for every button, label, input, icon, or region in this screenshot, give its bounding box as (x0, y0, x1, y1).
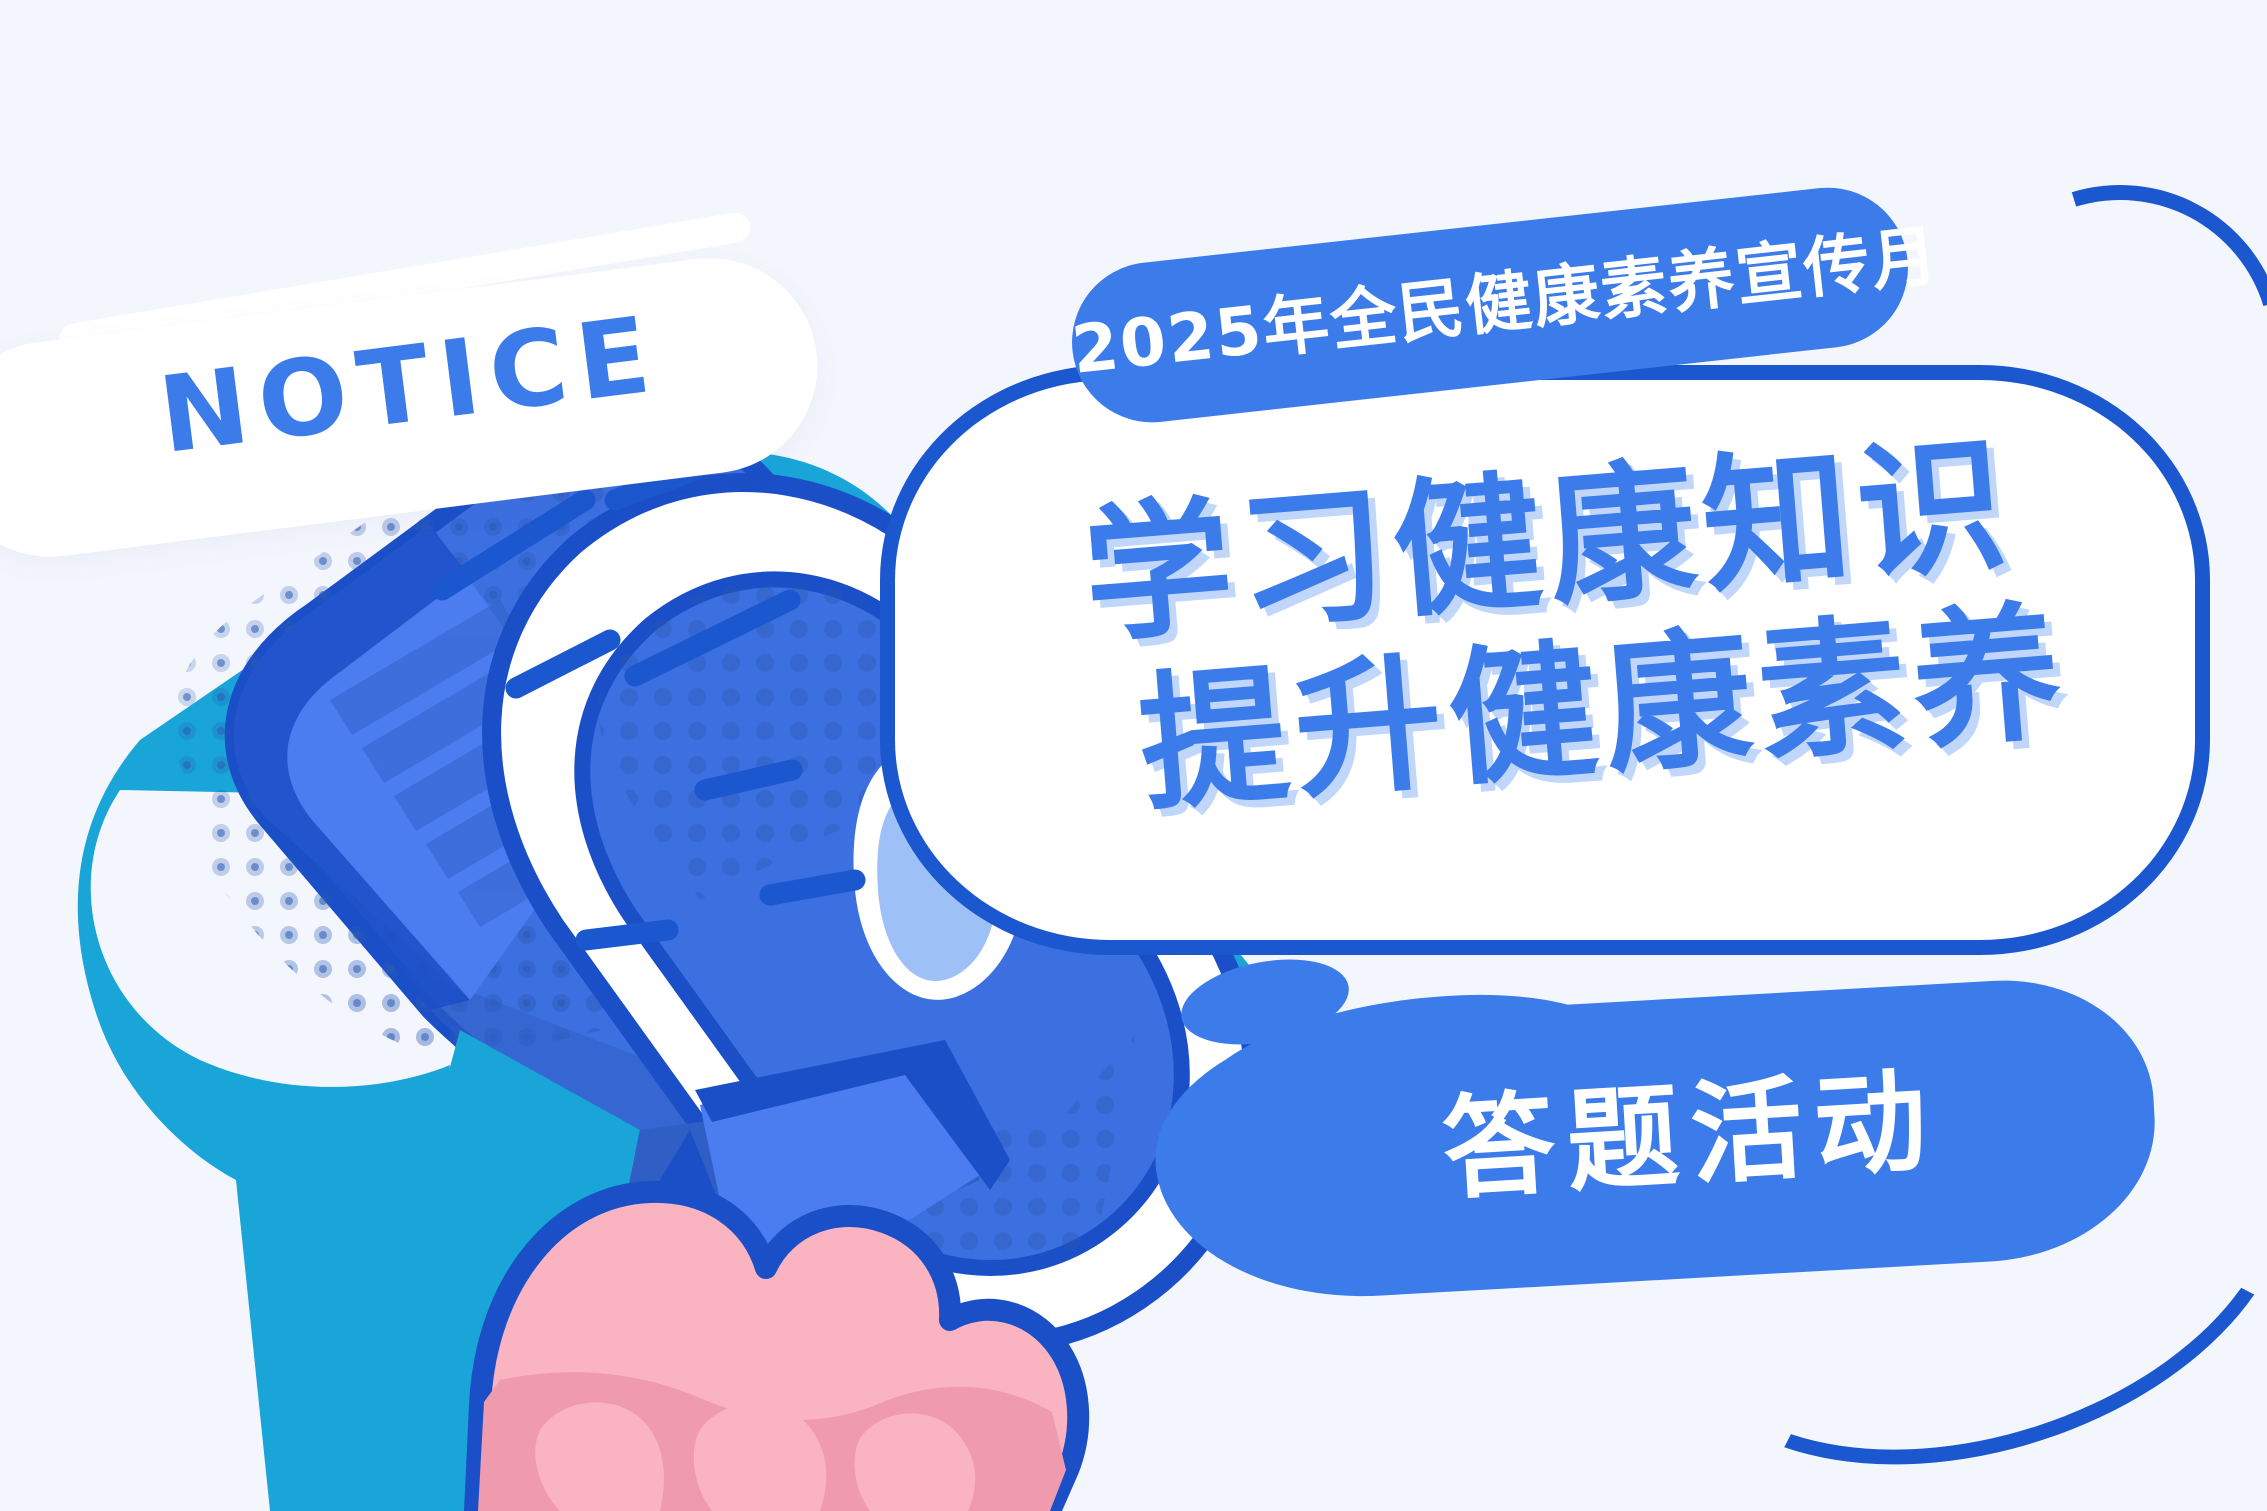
promotional-poster: NOTICE 学习健康知识 提升健康素养 2025年全民健康素养宣传月 答题活动 (0, 0, 2267, 1511)
